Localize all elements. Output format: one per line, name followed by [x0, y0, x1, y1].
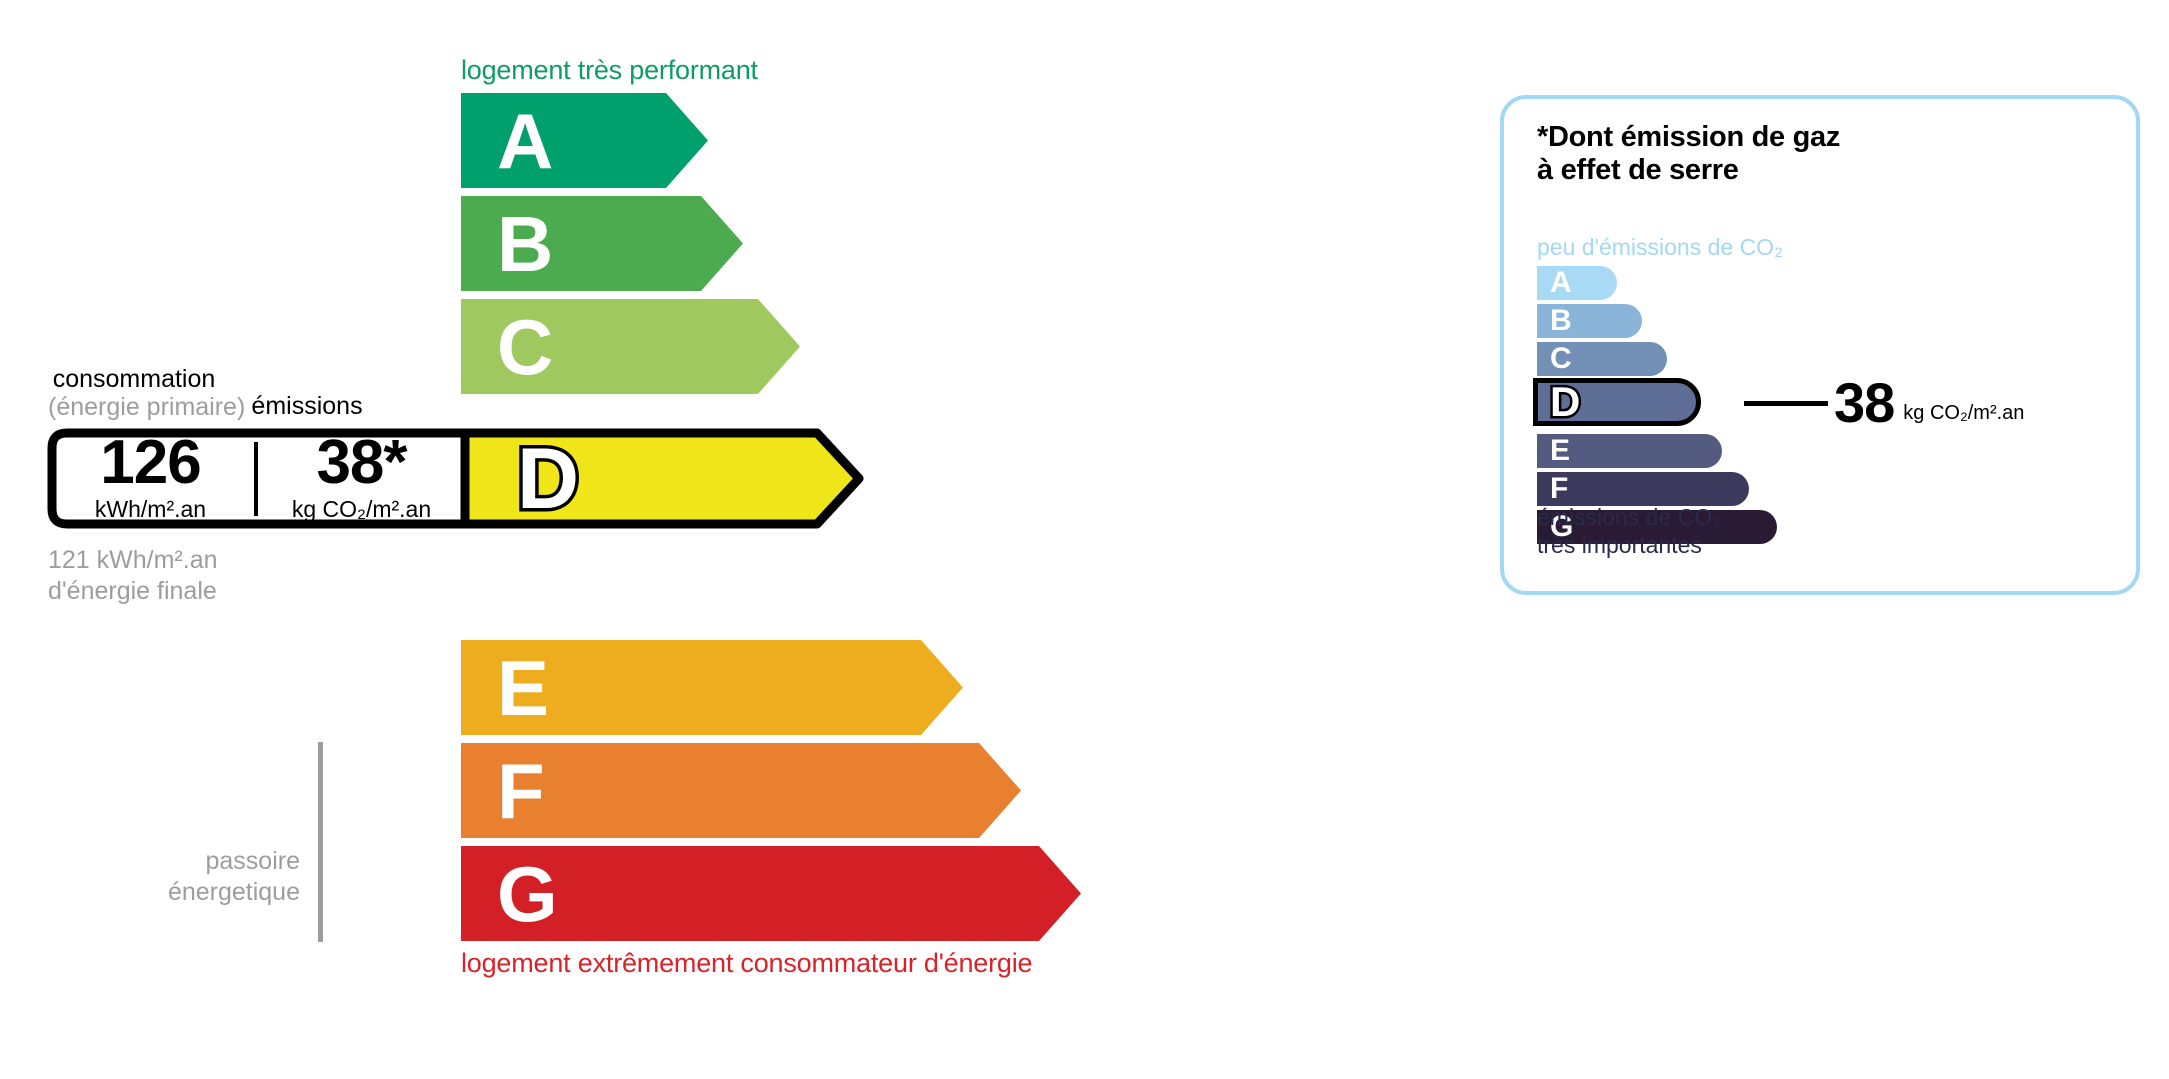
co2-bar-letter-f: F [1550, 474, 1568, 504]
co2-bottom-caption-line1: émissions de CO₂ [1537, 504, 1721, 532]
co2-bar-e[interactable]: E [1537, 434, 1722, 468]
consumption-label-main: consommation [53, 365, 216, 393]
co2-value-group: 38 kg CO₂/m².an [1834, 375, 2024, 431]
passoire-bracket-line [318, 742, 323, 942]
scale-top-caption: logement très performant [461, 55, 758, 86]
energy-band-letter-c: C [497, 308, 553, 386]
emissions-value-cell: 38* kg CO₂/m².an [258, 428, 465, 529]
consumption-label-sub: (énergie primaire) [48, 393, 220, 421]
co2-bar-letter-d: D [1550, 381, 1580, 423]
final-energy-line1: 121 kWh/m².an [48, 545, 218, 576]
co2-bottom-caption-line2: très importantes [1537, 532, 1721, 560]
co2-top-caption: peu d'émissions de CO₂ [1537, 234, 1783, 261]
energy-band-letter-e: E [497, 649, 549, 727]
dpe-diagram: logement très performant A B C E [0, 0, 2169, 1079]
co2-bar-letter-c: C [1550, 344, 1572, 374]
scale-bottom-caption: logement extrêmement consommateur d'éner… [461, 948, 1032, 979]
energy-band-letter-a: A [497, 102, 553, 180]
energy-band-letter-f: F [497, 752, 545, 830]
co2-bar-letter-b: B [1550, 306, 1572, 336]
band-arrow-shape-f [461, 743, 1024, 838]
energy-band-letter-d: D [517, 436, 579, 522]
co2-panel-title: *Dont émission de gaz à effet de serre [1537, 121, 1840, 188]
co2-bar-d-highlighted[interactable]: D [1533, 378, 1701, 426]
co2-leader-line [1744, 401, 1828, 406]
co2-bar-letter-a: A [1550, 268, 1572, 298]
passoire-label-line1: passoire [100, 846, 300, 877]
co2-value: 38 [1834, 375, 1894, 431]
consumption-value: 126 [100, 434, 200, 493]
co2-title-line1: *Dont émission de gaz [1537, 121, 1840, 154]
co2-bar-f[interactable]: F [1537, 472, 1749, 506]
final-energy-note: 121 kWh/m².an d'énergie finale [48, 545, 218, 606]
co2-bar-b[interactable]: B [1537, 304, 1642, 338]
consumption-unit: kWh/m².an [95, 496, 206, 523]
co2-bar-a[interactable]: A [1537, 266, 1617, 300]
emissions-unit: kg CO₂/m².an [292, 496, 431, 523]
energy-band-letter-g: G [497, 855, 558, 933]
co2-emissions-panel: *Dont émission de gaz à effet de serre p… [1500, 95, 2140, 595]
passoire-label-line2: énergetique [100, 877, 300, 908]
co2-unit: kg CO₂/m².an [1903, 402, 2024, 425]
energy-band-letter-b: B [497, 205, 553, 283]
passoire-label: passoire énergetique [100, 846, 300, 907]
co2-bottom-caption: émissions de CO₂ très importantes [1537, 504, 1721, 559]
value-panel: 126 kWh/m².an 38* kg CO₂/m².an [47, 428, 465, 529]
consumption-label: consommation (énergie primaire) [48, 365, 220, 421]
co2-title-line2: à effet de serre [1537, 154, 1840, 187]
co2-bar-c[interactable]: C [1537, 342, 1667, 376]
emissions-label: émissions [222, 392, 392, 421]
emissions-value: 38* [316, 434, 406, 493]
consumption-value-cell: 126 kWh/m².an [47, 428, 254, 529]
final-energy-line2: d'énergie finale [48, 576, 218, 607]
energy-performance-scale: logement très performant A B C E [0, 0, 1380, 1079]
co2-bar-letter-e: E [1550, 436, 1570, 466]
